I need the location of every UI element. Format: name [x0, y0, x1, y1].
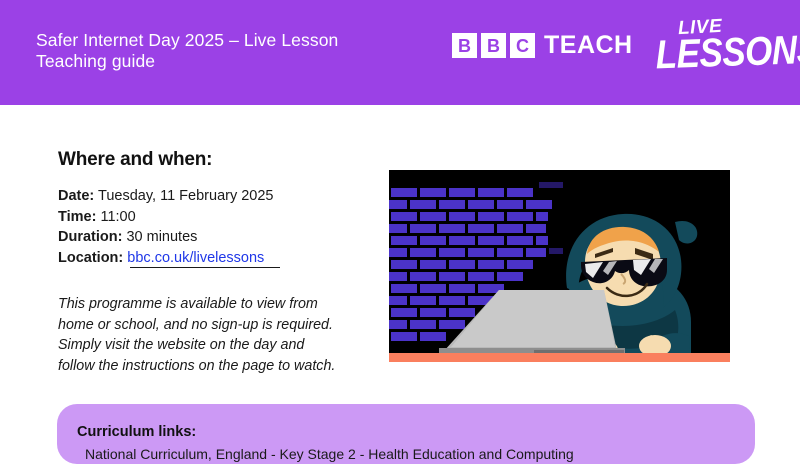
live-lessons-logo: LIVE LESSONS [655, 18, 775, 88]
bbc-blocks: B B C [452, 33, 535, 58]
curriculum-links-title: Curriculum links: [77, 424, 196, 440]
location-link-underline [130, 267, 280, 268]
bbc-letter-block-2: B [481, 33, 506, 58]
detail-value-duration: 30 minutes [126, 229, 197, 245]
detail-label-duration: Duration: [58, 229, 122, 245]
section-heading-where-and-when: Where and when: [58, 149, 212, 171]
hacker-illustration-svg [389, 170, 730, 362]
teach-wordmark: TEACH [544, 33, 633, 58]
detail-row-location: Location: bbc.co.uk/livelessons [58, 248, 274, 269]
bbc-letter-block-3: C [510, 33, 535, 58]
detail-value-time: 11:00 [100, 209, 135, 225]
page-header: Safer Internet Day 2025 – Live Lesson Te… [0, 0, 800, 105]
curriculum-link-item: National Curriculum, England - Key Stage… [85, 446, 574, 462]
detail-row-duration: Duration: 30 minutes [58, 227, 274, 248]
detail-row-date: Date: Tuesday, 11 February 2025 [58, 186, 274, 207]
detail-label-time: Time: [58, 209, 96, 225]
bbc-letter-block-1: B [452, 33, 477, 58]
desk [389, 353, 730, 362]
hacker-illustration [389, 170, 730, 362]
curriculum-links-box: Curriculum links: National Curriculum, E… [57, 404, 755, 464]
live-lessons-lessons-word: LESSONS [655, 29, 800, 75]
detail-value-date: Tuesday, 11 February 2025 [98, 188, 273, 204]
detail-row-time: Time: 11:00 [58, 207, 274, 228]
detail-label-location: Location: [58, 250, 123, 266]
location-link[interactable]: bbc.co.uk/livelessons [127, 250, 264, 266]
viewing-instructions-text: This programme is available to view from… [58, 294, 358, 376]
event-details-list: Date: Tuesday, 11 February 2025 Time: 11… [58, 186, 274, 268]
bbc-teach-logo: B B C TEACH [452, 33, 633, 58]
detail-label-date: Date: [58, 188, 94, 204]
page-title: Safer Internet Day 2025 – Live Lesson Te… [36, 30, 456, 72]
